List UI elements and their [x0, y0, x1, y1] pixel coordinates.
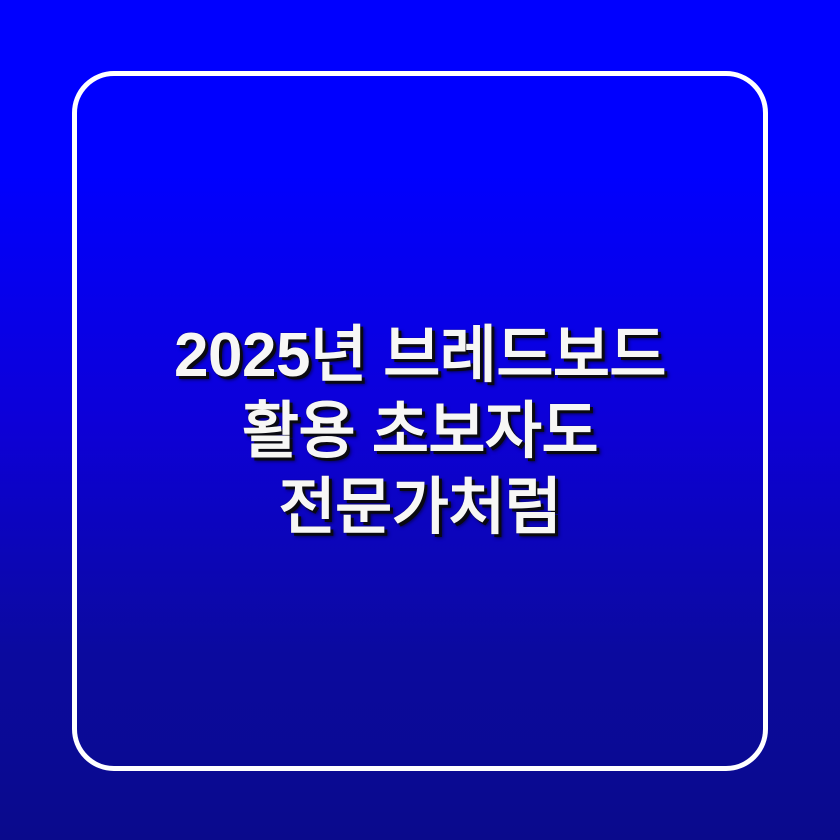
thumbnail-canvas: 2025년 브레드보드 활용 초보자도 전문가처럼: [0, 0, 840, 840]
headline-line-1: 2025년 브레드보드: [0, 318, 840, 394]
headline-line-3: 전문가처럼: [0, 470, 840, 546]
headline-line-2: 활용 초보자도: [0, 394, 840, 470]
headline-text-block: 2025년 브레드보드 활용 초보자도 전문가처럼: [0, 318, 840, 546]
